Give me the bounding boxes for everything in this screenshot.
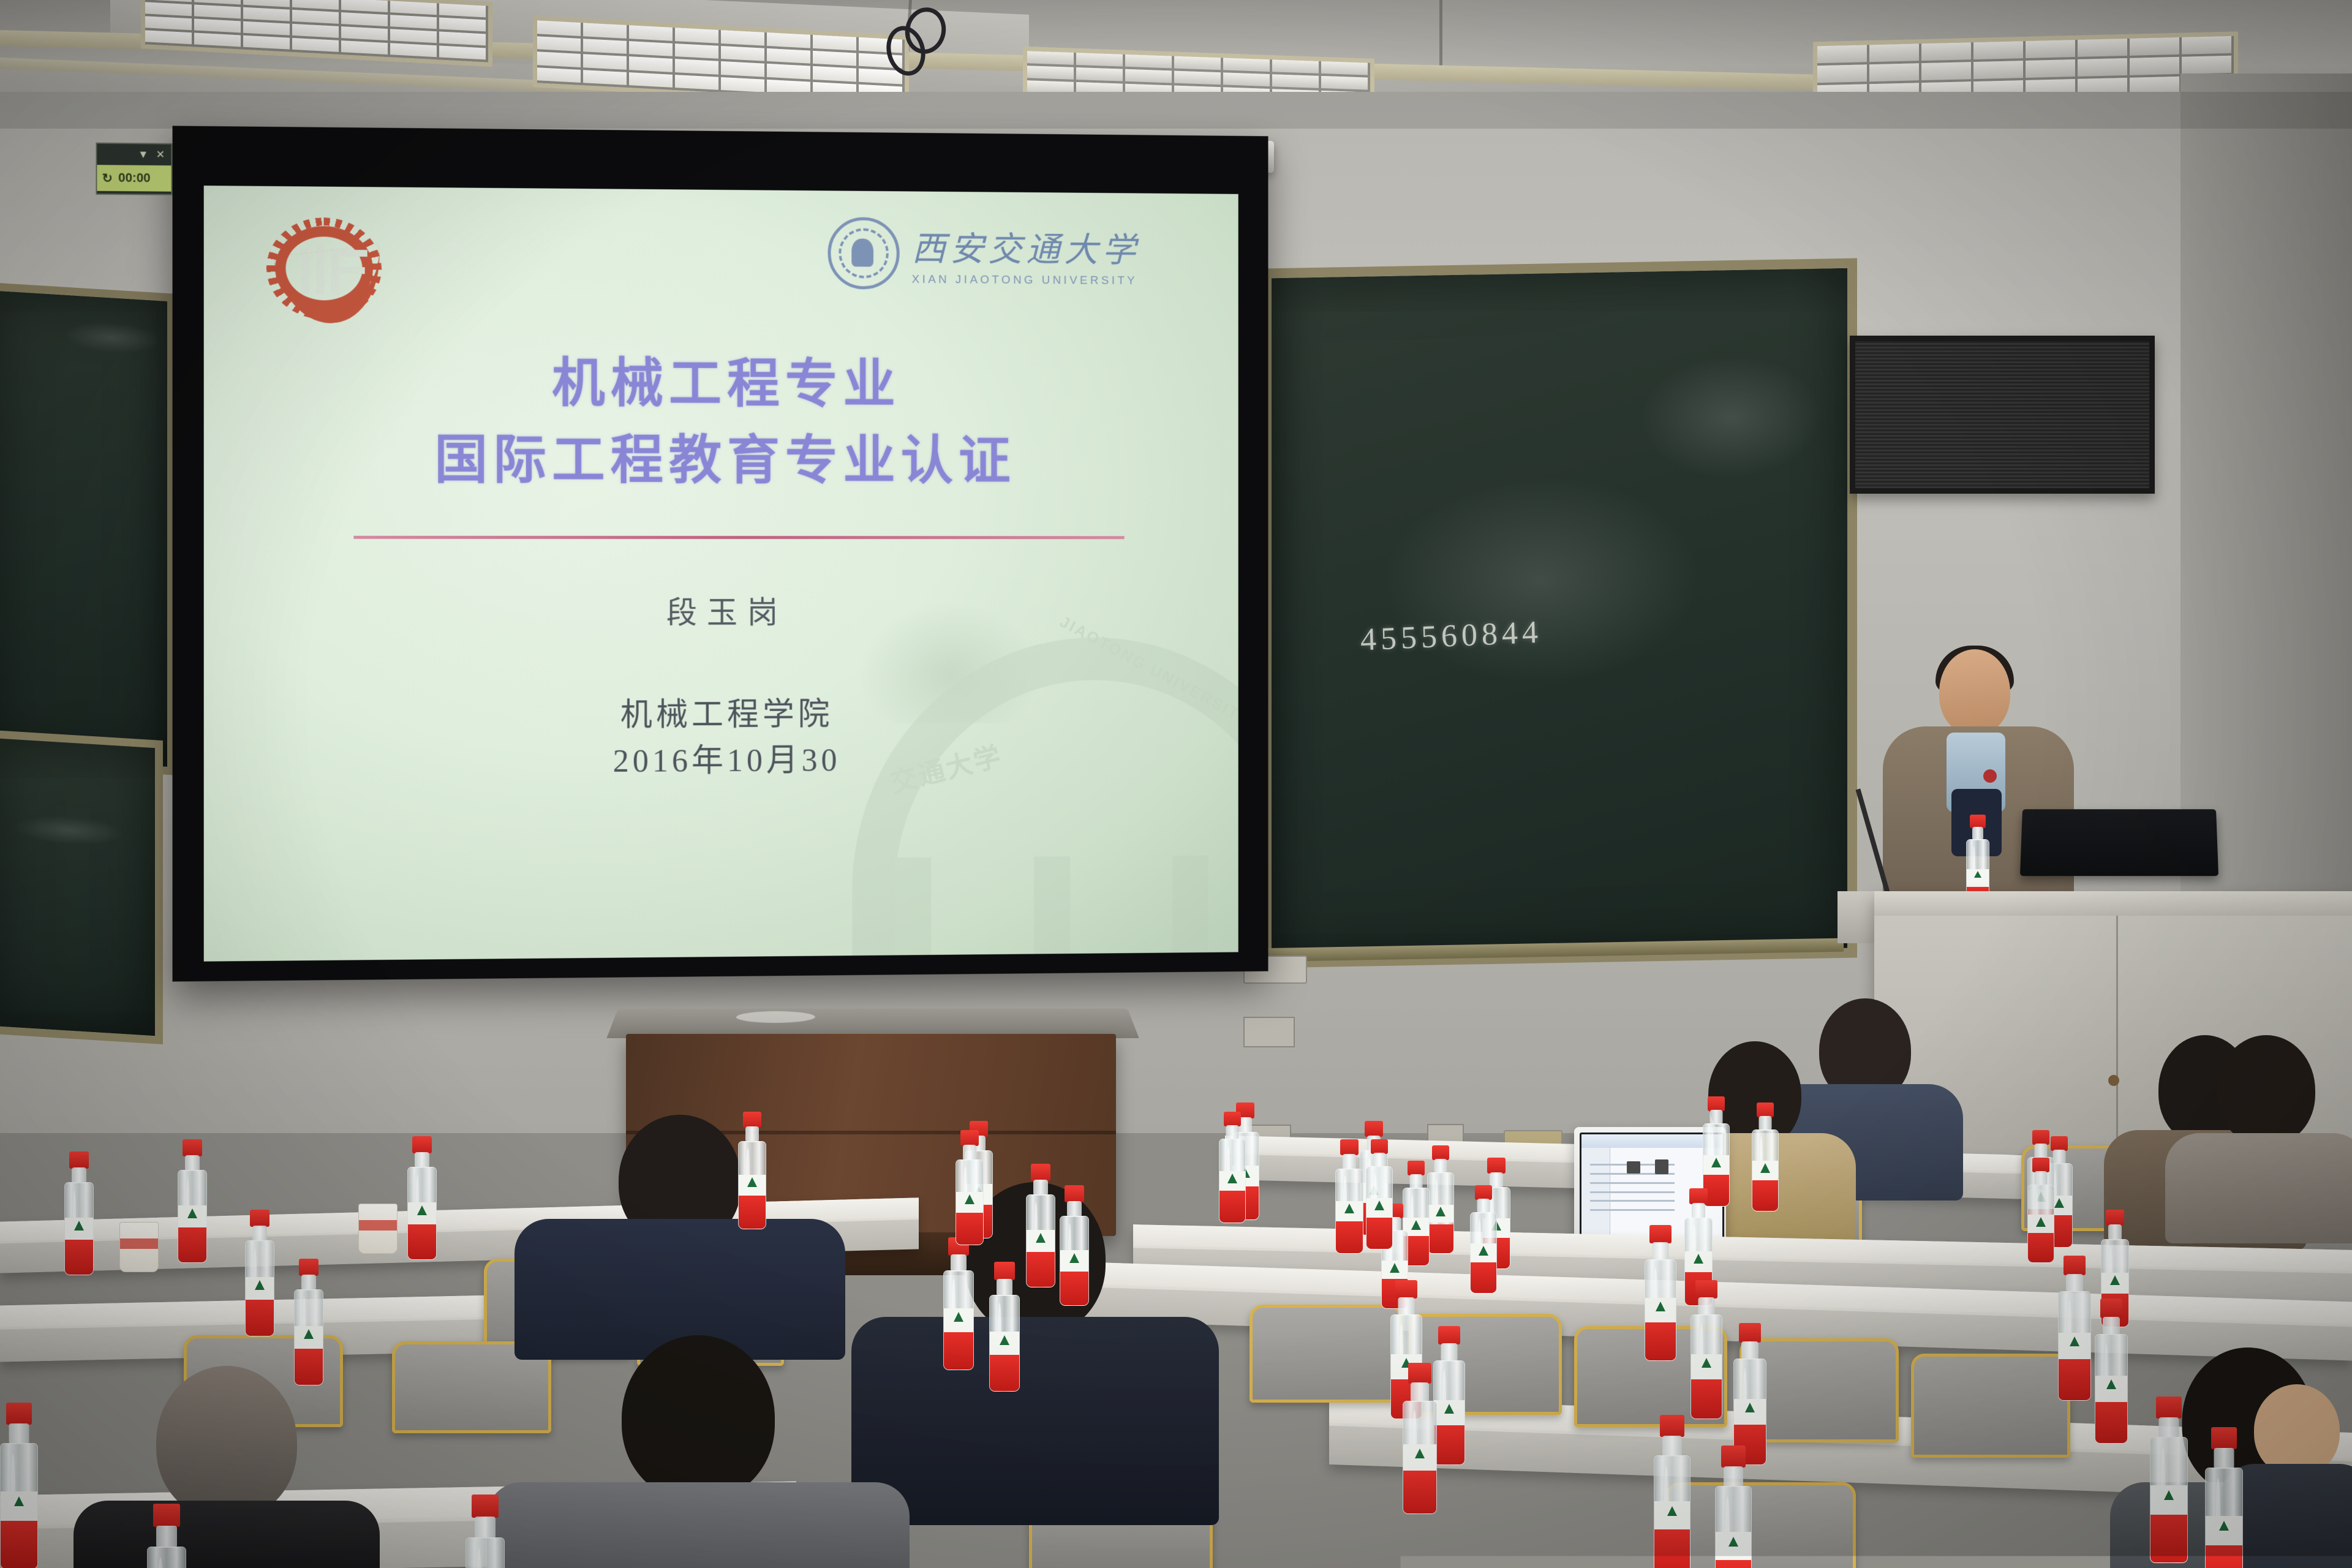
water-bottle[interactable] bbox=[2150, 1396, 2188, 1562]
slide-title: 机械工程专业 国际工程教育专业认证 bbox=[204, 344, 1238, 499]
water-bottle[interactable] bbox=[956, 1130, 984, 1244]
lecture-hall-scene: 455560844 ▼ ✕ ↻ 00:00 bbox=[0, 0, 2352, 1568]
water-bottle[interactable] bbox=[1366, 1139, 1393, 1248]
water-bottle[interactable] bbox=[1645, 1225, 1676, 1360]
slide-date: 2016年10月30 bbox=[204, 736, 1238, 787]
close-icon: ✕ bbox=[156, 149, 165, 161]
water-bottle[interactable] bbox=[294, 1259, 323, 1384]
water-bottle[interactable] bbox=[1219, 1112, 1246, 1222]
back-icon: ↻ bbox=[102, 170, 113, 186]
water-bottle[interactable] bbox=[64, 1151, 94, 1274]
slide-surface: 交通大学 JIAOTONG UNIVERSITY 西安交通大学 XIAN J bbox=[204, 186, 1238, 962]
wall-socket[interactable] bbox=[1243, 1017, 1295, 1047]
presenter-head bbox=[1939, 649, 2010, 735]
chair[interactable] bbox=[1911, 1354, 2070, 1458]
microphone-icon bbox=[1983, 769, 1997, 783]
water-bottle[interactable] bbox=[1427, 1145, 1454, 1253]
water-bottle[interactable] bbox=[2095, 1298, 2128, 1442]
wall-speaker bbox=[1850, 336, 2155, 494]
ceiling-seam bbox=[1439, 0, 1442, 73]
water-bottle[interactable] bbox=[1654, 1415, 1691, 1568]
water-bottle[interactable] bbox=[1715, 1445, 1752, 1568]
paper-cup[interactable] bbox=[119, 1222, 159, 1272]
lectern-cup bbox=[735, 1011, 816, 1023]
water-bottle[interactable] bbox=[1026, 1164, 1055, 1286]
water-bottle[interactable] bbox=[2205, 1427, 2243, 1568]
water-bottle[interactable] bbox=[1433, 1326, 1465, 1464]
osd-timer: 00:00 bbox=[118, 171, 150, 186]
water-bottle[interactable] bbox=[1733, 1323, 1766, 1464]
water-bottle[interactable] bbox=[407, 1136, 437, 1259]
water-bottle[interactable] bbox=[1691, 1280, 1722, 1418]
chalkboard-left-lower bbox=[0, 729, 163, 1044]
water-bottle[interactable] bbox=[147, 1504, 186, 1568]
slide-org-and-date: 机械工程学院 2016年10月30 bbox=[204, 690, 1238, 787]
chair[interactable] bbox=[1666, 1482, 1856, 1568]
school-logo bbox=[266, 217, 382, 320]
water-bottle[interactable] bbox=[1470, 1185, 1497, 1292]
university-logo: 西安交通大学 XIAN JIAOTONG UNIVERSITY bbox=[828, 216, 1148, 292]
water-bottle[interactable] bbox=[989, 1262, 1020, 1390]
water-bottle[interactable] bbox=[1752, 1102, 1779, 1210]
paper-cup[interactable] bbox=[358, 1204, 398, 1254]
water-bottle[interactable] bbox=[1335, 1139, 1363, 1253]
water-bottle[interactable] bbox=[943, 1237, 974, 1369]
chair[interactable] bbox=[1249, 1305, 1403, 1403]
audience-member bbox=[67, 1366, 386, 1568]
slide-organization: 机械工程学院 bbox=[204, 690, 1238, 741]
audience-member bbox=[484, 1335, 913, 1568]
title-divider bbox=[353, 536, 1124, 539]
water-bottle[interactable] bbox=[1060, 1185, 1089, 1305]
audience-member bbox=[2162, 1035, 2352, 1243]
water-bottle[interactable] bbox=[178, 1139, 207, 1262]
university-seal-icon bbox=[828, 217, 900, 289]
chalkboard-main: 455560844 bbox=[1262, 258, 1857, 968]
projector-osd-overlay: ▼ ✕ ↻ 00:00 bbox=[96, 143, 172, 195]
university-name-en: XIAN JIAOTONG UNIVERSITY bbox=[912, 273, 1140, 287]
chevron-down-icon: ▼ bbox=[138, 148, 148, 160]
water-bottle[interactable] bbox=[0, 1403, 38, 1568]
water-bottle[interactable] bbox=[738, 1112, 766, 1228]
water-bottle[interactable] bbox=[2027, 1158, 2054, 1262]
audience-member bbox=[508, 1115, 851, 1360]
slide-title-line1: 机械工程专业 bbox=[204, 344, 1238, 424]
projection-screen-frame: ▼ ✕ ↻ 00:00 交通大学 JIAOTONG UNIVERSITY bbox=[173, 126, 1268, 981]
university-name-cn: 西安交通大学 bbox=[912, 221, 1140, 272]
slide-title-line2: 国际工程教育专业认证 bbox=[204, 421, 1238, 499]
presenter-laptop[interactable] bbox=[2020, 809, 2218, 876]
water-bottle[interactable] bbox=[466, 1494, 505, 1568]
slide-author: 段玉岗 bbox=[204, 587, 1238, 633]
water-bottle[interactable] bbox=[1403, 1363, 1437, 1513]
water-bottle[interactable] bbox=[245, 1210, 274, 1335]
chalkboard-left-upper bbox=[0, 282, 175, 775]
water-bottle[interactable] bbox=[2058, 1256, 2091, 1400]
